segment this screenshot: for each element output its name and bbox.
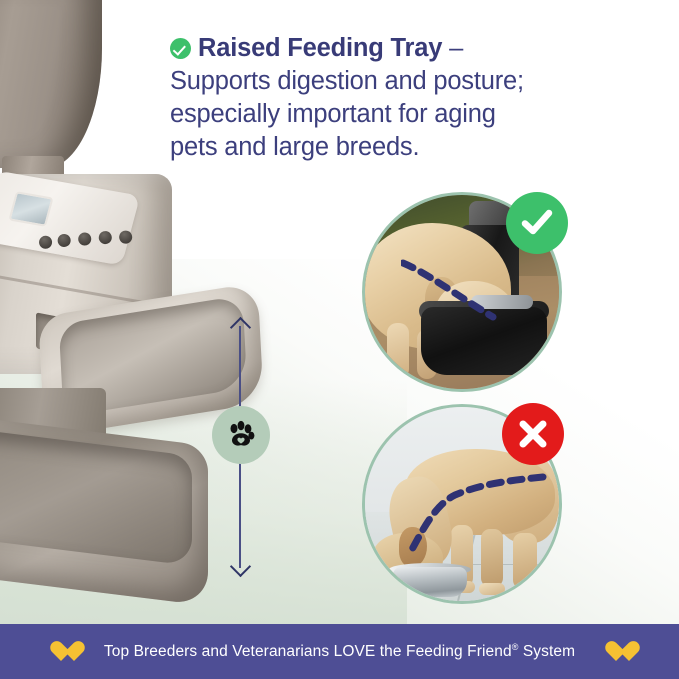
control-button[interactable] xyxy=(98,230,113,245)
dog-leg xyxy=(387,323,409,379)
floor-bowl xyxy=(393,567,467,597)
paw-print-badge xyxy=(212,406,270,464)
dog-paw xyxy=(479,583,505,595)
dashed-posture-line xyxy=(383,447,549,567)
heart-icon xyxy=(605,641,629,663)
control-button[interactable] xyxy=(38,235,53,250)
banner-text-before: Top Breeders and Veteranarians LOVE the … xyxy=(104,643,512,660)
food-hopper xyxy=(0,0,102,168)
banner-text-after: System xyxy=(518,643,575,660)
product-feature-graphic: Raised Feeding Tray – Supports digestion… xyxy=(0,0,679,679)
automatic-pet-feeder xyxy=(0,0,258,588)
control-button[interactable] xyxy=(77,232,92,247)
hopper-kibble xyxy=(0,0,8,128)
banner-text: Top Breeders and Veteranarians LOVE the … xyxy=(104,642,575,661)
control-button[interactable] xyxy=(118,230,133,245)
paw-print-icon xyxy=(225,419,257,451)
check-circle-icon xyxy=(520,206,554,240)
check-badge xyxy=(506,192,568,254)
dashed-posture-line xyxy=(401,257,513,327)
control-button[interactable] xyxy=(57,233,72,248)
headline-dash: – xyxy=(442,34,463,62)
x-circle-icon xyxy=(516,417,550,451)
x-badge xyxy=(502,403,564,465)
dog-paw xyxy=(511,585,537,597)
bottom-banner: Top Breeders and Veteranarians LOVE the … xyxy=(0,624,679,679)
heart-icon xyxy=(50,641,74,663)
